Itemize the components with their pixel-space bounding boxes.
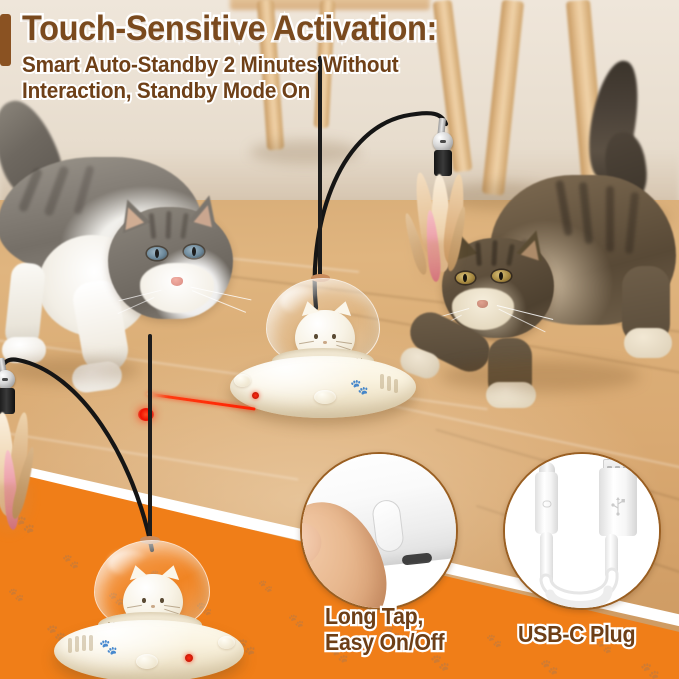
device-main-power-button <box>314 390 336 404</box>
wand-lower-feather-haze <box>0 484 38 540</box>
cat-right-stripe <box>606 186 614 252</box>
headline-accent-bar <box>0 14 11 66</box>
cat-left-nose <box>171 277 183 286</box>
headline-subtitle-line-1: Smart Auto-Standby 2 Minutes Without <box>22 52 592 79</box>
caption-long-tap: Long Tap, Easy On/Off <box>325 604 444 656</box>
wand-lower-ferrule <box>0 388 15 414</box>
device-main-side-button <box>234 374 251 387</box>
device-main-vent <box>394 379 398 393</box>
paw-print-icon: 🐾 <box>258 580 273 592</box>
device-main-vent <box>387 376 391 391</box>
cat-figure-eye <box>332 334 336 339</box>
cat-figure-eye <box>142 598 146 603</box>
cat-figure-nose <box>323 341 327 344</box>
paw-print-icon: 🐾 <box>486 634 502 647</box>
product-infographic: 🐾 🐾 🐾 🐾 🐾 🐾 🐾 🐾 🐾 🐾 🐾 🐾 🐾 <box>0 0 679 679</box>
paw-print-icon: 🐾 <box>430 656 450 672</box>
cat-figure-whisker <box>127 605 142 609</box>
caption-usb-c-line-1: USB-C Plug <box>518 622 635 648</box>
headline-block: Touch-Sensitive Activation: Smart Auto-S… <box>22 10 642 105</box>
caption-long-tap-line-2: Easy On/Off <box>325 630 444 656</box>
device-main-laser-aperture <box>252 392 259 399</box>
device-main: 🐾 <box>228 268 418 420</box>
cat-figure-eye <box>160 598 164 603</box>
device-lower-vent <box>89 635 93 651</box>
wand-upper-bell-slit <box>440 140 446 143</box>
cat-left-pupil <box>155 249 159 258</box>
device-lower: 🐾 <box>52 530 246 679</box>
device-lower-cord <box>148 334 152 540</box>
device-lower-side-button <box>218 636 235 649</box>
cat-figure-whisker <box>299 341 314 345</box>
cat-figure-ear <box>127 563 148 580</box>
cat-figure-whisker <box>336 341 352 344</box>
caption-long-tap-line-1: Long Tap, <box>325 604 444 630</box>
paw-print-icon: 🐾 <box>8 588 24 601</box>
wand-lower-bell-slit <box>2 378 8 381</box>
cat-right-shadow <box>440 360 640 392</box>
page-title: Touch-Sensitive Activation: <box>22 10 599 48</box>
inset-thumb-press <box>300 452 458 610</box>
device-lower-vent <box>82 635 86 651</box>
device-main-vent <box>380 374 384 389</box>
cat-left-forehead-stripe <box>166 211 172 239</box>
cat-figure-nose <box>151 605 155 608</box>
device-lower-laser-aperture <box>185 654 193 662</box>
paw-print-icon: 🐾 <box>350 380 369 395</box>
cat-figure-ear <box>299 299 320 316</box>
headline-subtitle-line-2: Interaction, Standby Mode On <box>22 78 592 105</box>
cat-right-pupil <box>499 272 503 280</box>
paw-print-icon: 🐾 <box>288 614 304 627</box>
device-lower-vent <box>68 638 72 653</box>
device-lower-vent <box>75 636 79 652</box>
cat-figure-eye <box>314 334 318 339</box>
thumbnail <box>300 513 329 578</box>
paw-print-icon: 🐾 <box>640 664 660 679</box>
headline-subtitle: Smart Auto-Standby 2 Minutes Without Int… <box>22 52 592 105</box>
cable-loop <box>505 454 661 610</box>
cat-left-pupil <box>192 247 196 256</box>
inset-usb-cable <box>503 452 661 610</box>
wand-upper-ferrule <box>434 150 452 176</box>
paw-print-icon: 🐾 <box>540 660 559 675</box>
paw-print-icon: 🐾 <box>99 640 118 655</box>
caption-usb-c: USB-C Plug <box>518 622 635 648</box>
device-lower-power-button <box>136 654 158 669</box>
cat-right-paw <box>624 328 672 358</box>
cat-figure-whisker <box>164 605 180 608</box>
